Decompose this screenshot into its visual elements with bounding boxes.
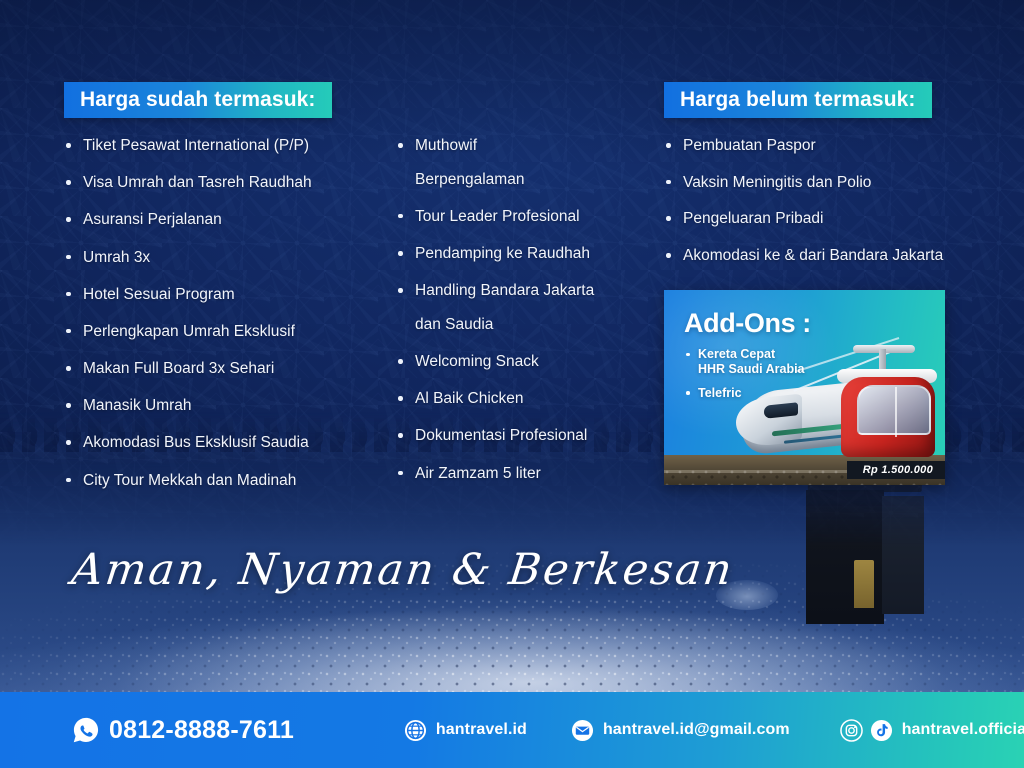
list-item: Akomodasi ke & dari Bandara Jakarta [664,246,994,266]
list-item: Perlengkapan Umrah Eksklusif [64,322,384,342]
addons-list: Kereta Cepat HHR Saudi Arabia Telefric [686,347,805,409]
excluded-list: Pembuatan Paspor Vaksin Meningitis dan P… [664,136,994,283]
included-list-column-2: Muthowif Berpengalaman Tour Leader Profe… [396,136,646,501]
whatsapp-phone-number: 0812-8888-7611 [109,716,294,745]
website-url: hantravel.id [436,721,527,739]
list-item: Pembuatan Paspor [664,136,994,156]
kaaba-structure [806,474,924,626]
addons-card: Add-Ons : Kereta Cepat HHR Saudi Arabia … [664,290,945,485]
list-item: Akomodasi Bus Eksklusif Saudia [64,433,384,453]
list-item: Pendamping ke Raudhah [396,244,646,264]
list-item: Umrah 3x [64,248,384,268]
tiktok-icon [870,719,893,742]
list-item: Tour Leader Profesional [396,207,646,227]
social-handle: hantravel.official [902,721,1024,739]
list-item: City Tour Mekkah dan Madinah [64,471,384,491]
kaaba-kiswah-belt [806,548,924,559]
list-item: Makan Full Board 3x Sehari [64,359,384,379]
list-item: Handling Bandara Jakarta dan Saudia [396,281,646,334]
instagram-icon [840,719,863,742]
list-item: Hotel Sesuai Program [64,285,384,305]
list-item: Air Zamzam 5 liter [396,464,646,484]
gondola-window [857,385,931,435]
gondola-hanger-arm [879,349,886,371]
email-contact[interactable]: hantravel.id@gmail.com [571,719,790,742]
list-item: Welcoming Snack [396,352,646,372]
list-item: Visa Umrah dan Tasreh Raudhah [64,173,384,193]
included-list-column-1: Tiket Pesawat International (P/P) Visa U… [64,136,384,508]
whatsapp-contact[interactable]: 0812-8888-7611 [72,716,294,745]
list-item: Al Baik Chicken [396,389,646,409]
addons-list-item: Kereta Cepat HHR Saudi Arabia [686,347,805,378]
list-item: Asuransi Perjalanan [64,210,384,230]
contact-footer-bar: 0812-8888-7611 hantravel.id [0,692,1024,768]
cable-car-illustration [835,337,939,465]
kaaba-door [854,560,874,608]
flyer-canvas: Harga sudah termasuk: Tiket Pesawat Inte… [0,0,1024,768]
list-item: Muthowif Berpengalaman [396,136,646,189]
list-item: Dokumentasi Profesional [396,426,646,446]
included-header-badge: Harga sudah termasuk: [64,82,332,118]
list-item: Pengeluaran Pribadi [664,209,994,229]
list-item: Tiket Pesawat International (P/P) [64,136,384,156]
social-contact[interactable]: hantravel.official [840,719,1024,742]
whatsapp-icon [72,716,100,744]
email-icon [571,719,594,742]
globe-icon [404,719,427,742]
email-address: hantravel.id@gmail.com [603,721,790,739]
addons-title: Add-Ons : [684,308,811,339]
list-item: Manasik Umrah [64,396,384,416]
website-contact[interactable]: hantravel.id [404,719,527,742]
tagline-script: Aman, Nyaman & Berkesan [69,545,737,595]
addons-list-item: Telefric [686,386,805,401]
addons-price-tag: Rp 1.500.000 [847,461,945,479]
excluded-header-badge: Harga belum termasuk: [664,82,932,118]
list-item: Vaksin Meningitis dan Polio [664,173,994,193]
gondola-cabin [841,377,935,457]
